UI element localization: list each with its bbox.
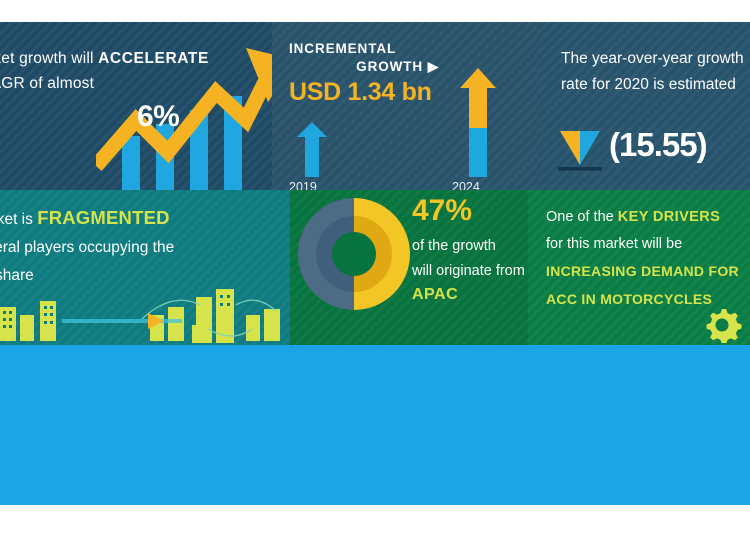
incremental-header: INCREMENTAL GROWTH ▶ [289,40,439,76]
panel-fragmented: market is FRAGMENTED several players occ… [0,190,290,345]
cagr-text: market growth will ACCELERATE a CAGR of … [0,46,236,96]
incremental-year-start: 2019 [289,180,317,190]
arrow-2024-icon [460,68,496,177]
cagr-text-l1: market growth will [0,50,98,67]
incremental-header-l1: INCREMENTAL [289,41,396,56]
panel-incremental-growth: INCREMENTAL GROWTH ▶ USD 1.34 bn 2019 20… [272,22,537,190]
incremental-header-l2: GROWTH [356,59,423,74]
row-middle: market is FRAGMENTED several players occ… [0,190,750,345]
drivers-driver-l1: INCREASING DEMAND FOR [546,263,739,279]
drivers-text-l2: for this market will be [546,236,682,252]
drivers-text-l1: One of the [546,209,618,225]
cagr-value: 6% [137,100,179,134]
infographic-canvas: market growth will ACCELERATE a CAGR of … [0,0,750,536]
row-top: market growth will ACCELERATE a CAGR of … [0,22,750,190]
apac-percent: 47% [412,194,472,228]
incremental-value: USD 1.34 bn [289,78,432,107]
apac-text: of the growth will originate from [412,234,528,284]
fragmented-text: market is FRAGMENTED several players occ… [0,204,270,290]
fragmented-text-l3: ket share [0,267,34,284]
yoy-value: (15.55) [609,126,707,164]
drivers-text: One of the KEY DRIVERS for this market w… [546,204,750,314]
fragmented-highlight: FRAGMENTED [37,207,170,228]
gear-icon [702,303,742,343]
fragmented-text-l2: several players occupying the [0,239,174,256]
yoy-text-l2: rate for 2020 is estimated [561,76,736,93]
footer-bar: READ THE REPORT: GLOBAL MOTORCYCLE ADVAN… [0,345,750,505]
panel-key-drivers: One of the KEY DRIVERS for this market w… [528,190,750,345]
yoy-text: The year-over-year growth rate for 2020 … [561,46,750,98]
cagr-text-l2: a CAGR of almost [0,75,94,92]
city-buildings-icon [0,285,290,345]
yoy-text-l1: The year-over-year growth [561,50,744,67]
down-triangle-icon [558,129,602,173]
apac-region: APAC [412,286,458,304]
arrow-2019-icon [297,122,327,177]
fragmented-text-l1: market is [0,211,37,228]
donut-chart-icon [294,194,414,314]
apac-text-l1: of the growth [412,238,496,254]
drivers-highlight: KEY DRIVERS [618,209,720,225]
panel-apac: 47% of the growth will originate from AP… [290,190,528,345]
cagr-accelerate: ACCELERATE [98,50,209,67]
incremental-year-end: 2024 [452,180,480,190]
panel-cagr: market growth will ACCELERATE a CAGR of … [0,22,272,190]
panel-yoy-growth: The year-over-year growth rate for 2020 … [537,22,750,190]
apac-text-l2: will originate from [412,263,525,279]
drivers-driver-l2: ACC IN MOTORCYCLES [546,291,712,307]
